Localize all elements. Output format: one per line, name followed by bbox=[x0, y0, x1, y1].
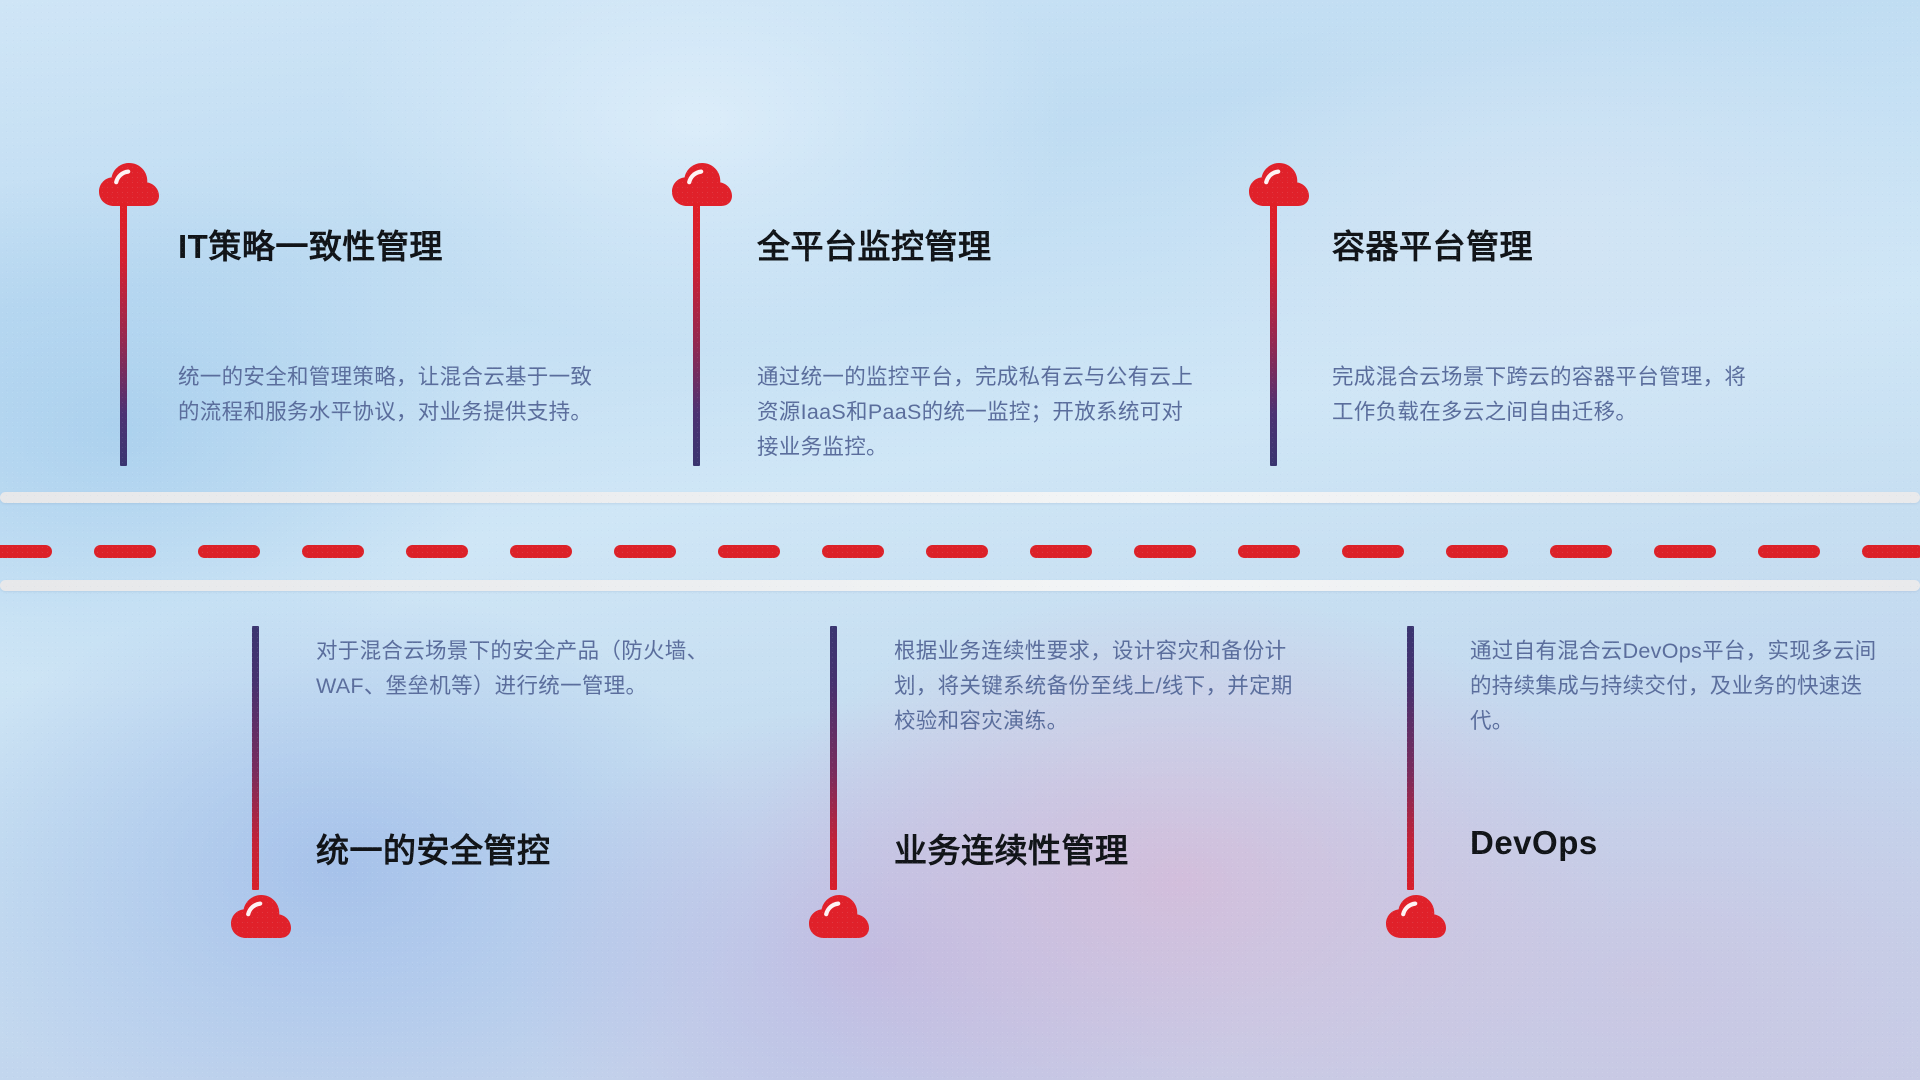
cloud-icon bbox=[1385, 894, 1447, 940]
dash-segment bbox=[1550, 545, 1612, 558]
connector-line bbox=[120, 202, 127, 466]
dash-segment bbox=[1654, 545, 1716, 558]
dash-segment bbox=[510, 545, 572, 558]
connector-line bbox=[252, 626, 259, 890]
top-column-1-body: 统一的安全和管理策略，让混合云基于一致的流程和服务水平协议，对业务提供支持。 bbox=[178, 360, 608, 430]
connector-line bbox=[830, 626, 837, 890]
cloud-icon bbox=[98, 162, 160, 208]
top-column-2-title: 全平台监控管理 bbox=[757, 220, 992, 268]
top-column-2-body: 通过统一的监控平台，完成私有云与公有云上资源IaaS和PaaS的统一监控；开放系… bbox=[757, 360, 1197, 465]
bottom-column-2-body: 根据业务连续性要求，设计容灾和备份计划，将关键系统备份至线上/线下，并定期校验和… bbox=[894, 634, 1314, 739]
dash-segment bbox=[94, 545, 156, 558]
top-column-3-body: 完成混合云场景下跨云的容器平台管理，将工作负载在多云之间自由迁移。 bbox=[1332, 360, 1762, 430]
red-dashed-line bbox=[0, 545, 1920, 558]
bottom-column-2-title: 业务连续性管理 bbox=[894, 824, 1129, 872]
connector-line bbox=[1407, 626, 1414, 890]
dash-segment bbox=[406, 545, 468, 558]
dash-segment bbox=[822, 545, 884, 558]
divider-bar-upper bbox=[0, 492, 1920, 503]
bottom-column-1-body: 对于混合云场景下的安全产品（防火墙、WAF、堡垒机等）进行统一管理。 bbox=[316, 634, 736, 704]
dash-segment bbox=[1342, 545, 1404, 558]
dash-segment bbox=[614, 545, 676, 558]
dash-segment bbox=[1446, 545, 1508, 558]
top-column-3-title: 容器平台管理 bbox=[1332, 220, 1533, 268]
bottom-column-3-body: 通过自有混合云DevOps平台，实现多云间的持续集成与持续交付，及业务的快速迭代… bbox=[1470, 634, 1890, 739]
dash-segment bbox=[302, 545, 364, 558]
dash-segment bbox=[0, 545, 52, 558]
bottom-column-3-title: DevOps bbox=[1470, 824, 1598, 862]
cloud-icon bbox=[1248, 162, 1310, 208]
connector-line bbox=[693, 202, 700, 466]
cloud-icon bbox=[808, 894, 870, 940]
connector-line bbox=[1270, 202, 1277, 466]
top-column-1-title: IT策略一致性管理 bbox=[178, 220, 443, 268]
infographic-canvas: IT策略一致性管理 统一的安全和管理策略，让混合云基于一致的流程和服务水平协议，… bbox=[0, 0, 1920, 1080]
dash-segment bbox=[1134, 545, 1196, 558]
cloud-icon bbox=[671, 162, 733, 208]
dash-segment bbox=[1862, 545, 1920, 558]
dash-segment bbox=[1030, 545, 1092, 558]
dash-segment bbox=[198, 545, 260, 558]
dash-segment bbox=[926, 545, 988, 558]
bottom-column-1-title: 统一的安全管控 bbox=[316, 824, 551, 872]
divider-bar-lower bbox=[0, 580, 1920, 591]
dash-segment bbox=[1758, 545, 1820, 558]
dash-segment bbox=[718, 545, 780, 558]
cloud-icon bbox=[230, 894, 292, 940]
dash-segment bbox=[1238, 545, 1300, 558]
